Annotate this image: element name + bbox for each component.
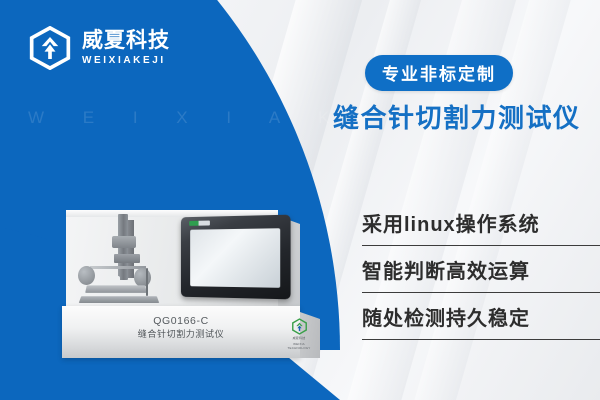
feature-item: 随处检测持久稳定 (362, 302, 600, 340)
screen-display[interactable] (190, 228, 280, 288)
feature-list: 采用linux操作系统 智能判断高效运算 随处检测持久稳定 (362, 208, 600, 340)
custom-service-badge: 专业非标定制 (365, 55, 513, 91)
base-logo-sub: WEIXIA TECHNOLOGY (284, 342, 314, 351)
machine-base-label: QG0166-C 缝合针切割力测试仪 (62, 314, 300, 342)
brand-name-en: WEIXIAKEJI (82, 54, 170, 67)
fixture-head (112, 236, 136, 248)
feature-label: 随处检测持久稳定 (362, 302, 600, 331)
product-photo: QG0166-C 缝合针切割力测试仪 威夏科技 WEIXIA TECHNOLOG… (62, 196, 322, 371)
brand-name-cn: 威夏科技 (82, 29, 170, 52)
base-logo-name: 威夏科技 (284, 336, 314, 341)
product-promo-banner: W E I X I A K E 威夏科技 WEIXIAKEJI 专业非标定制 缝… (0, 0, 600, 400)
fixture-cable (146, 268, 148, 296)
feature-label: 采用linux操作系统 (362, 208, 600, 237)
machine-base-logo: 威夏科技 WEIXIA TECHNOLOGY (284, 318, 314, 348)
fixture-plate (85, 285, 147, 292)
fixture-clamp (114, 254, 140, 263)
feature-item: 采用linux操作系统 (362, 208, 600, 246)
model-name: 缝合针切割力测试仪 (62, 328, 300, 342)
feature-item: 智能判断高效运算 (362, 255, 600, 293)
fixture-bed (79, 296, 159, 303)
fixture-sample (108, 276, 120, 283)
product-title: 缝合针切割力测试仪 (333, 98, 581, 135)
hmi-touchscreen[interactable] (181, 215, 291, 300)
cutting-force-test-fixture (76, 214, 168, 312)
brand-logo: 威夏科技 WEIXIAKEJI (28, 26, 170, 70)
hexagon-arrow-logo-icon (28, 26, 72, 70)
brand-text-block: 威夏科技 WEIXIAKEJI (82, 29, 170, 67)
screen-brand-tag-icon (189, 221, 210, 226)
feature-label: 智能判断高效运算 (362, 255, 600, 284)
model-code: QG0166-C (62, 314, 300, 328)
hexagon-arrow-logo-icon (284, 318, 314, 335)
fixture-knob-right (134, 268, 151, 287)
fixture-knob-left (78, 266, 95, 285)
fixture-column-rail (128, 220, 134, 278)
